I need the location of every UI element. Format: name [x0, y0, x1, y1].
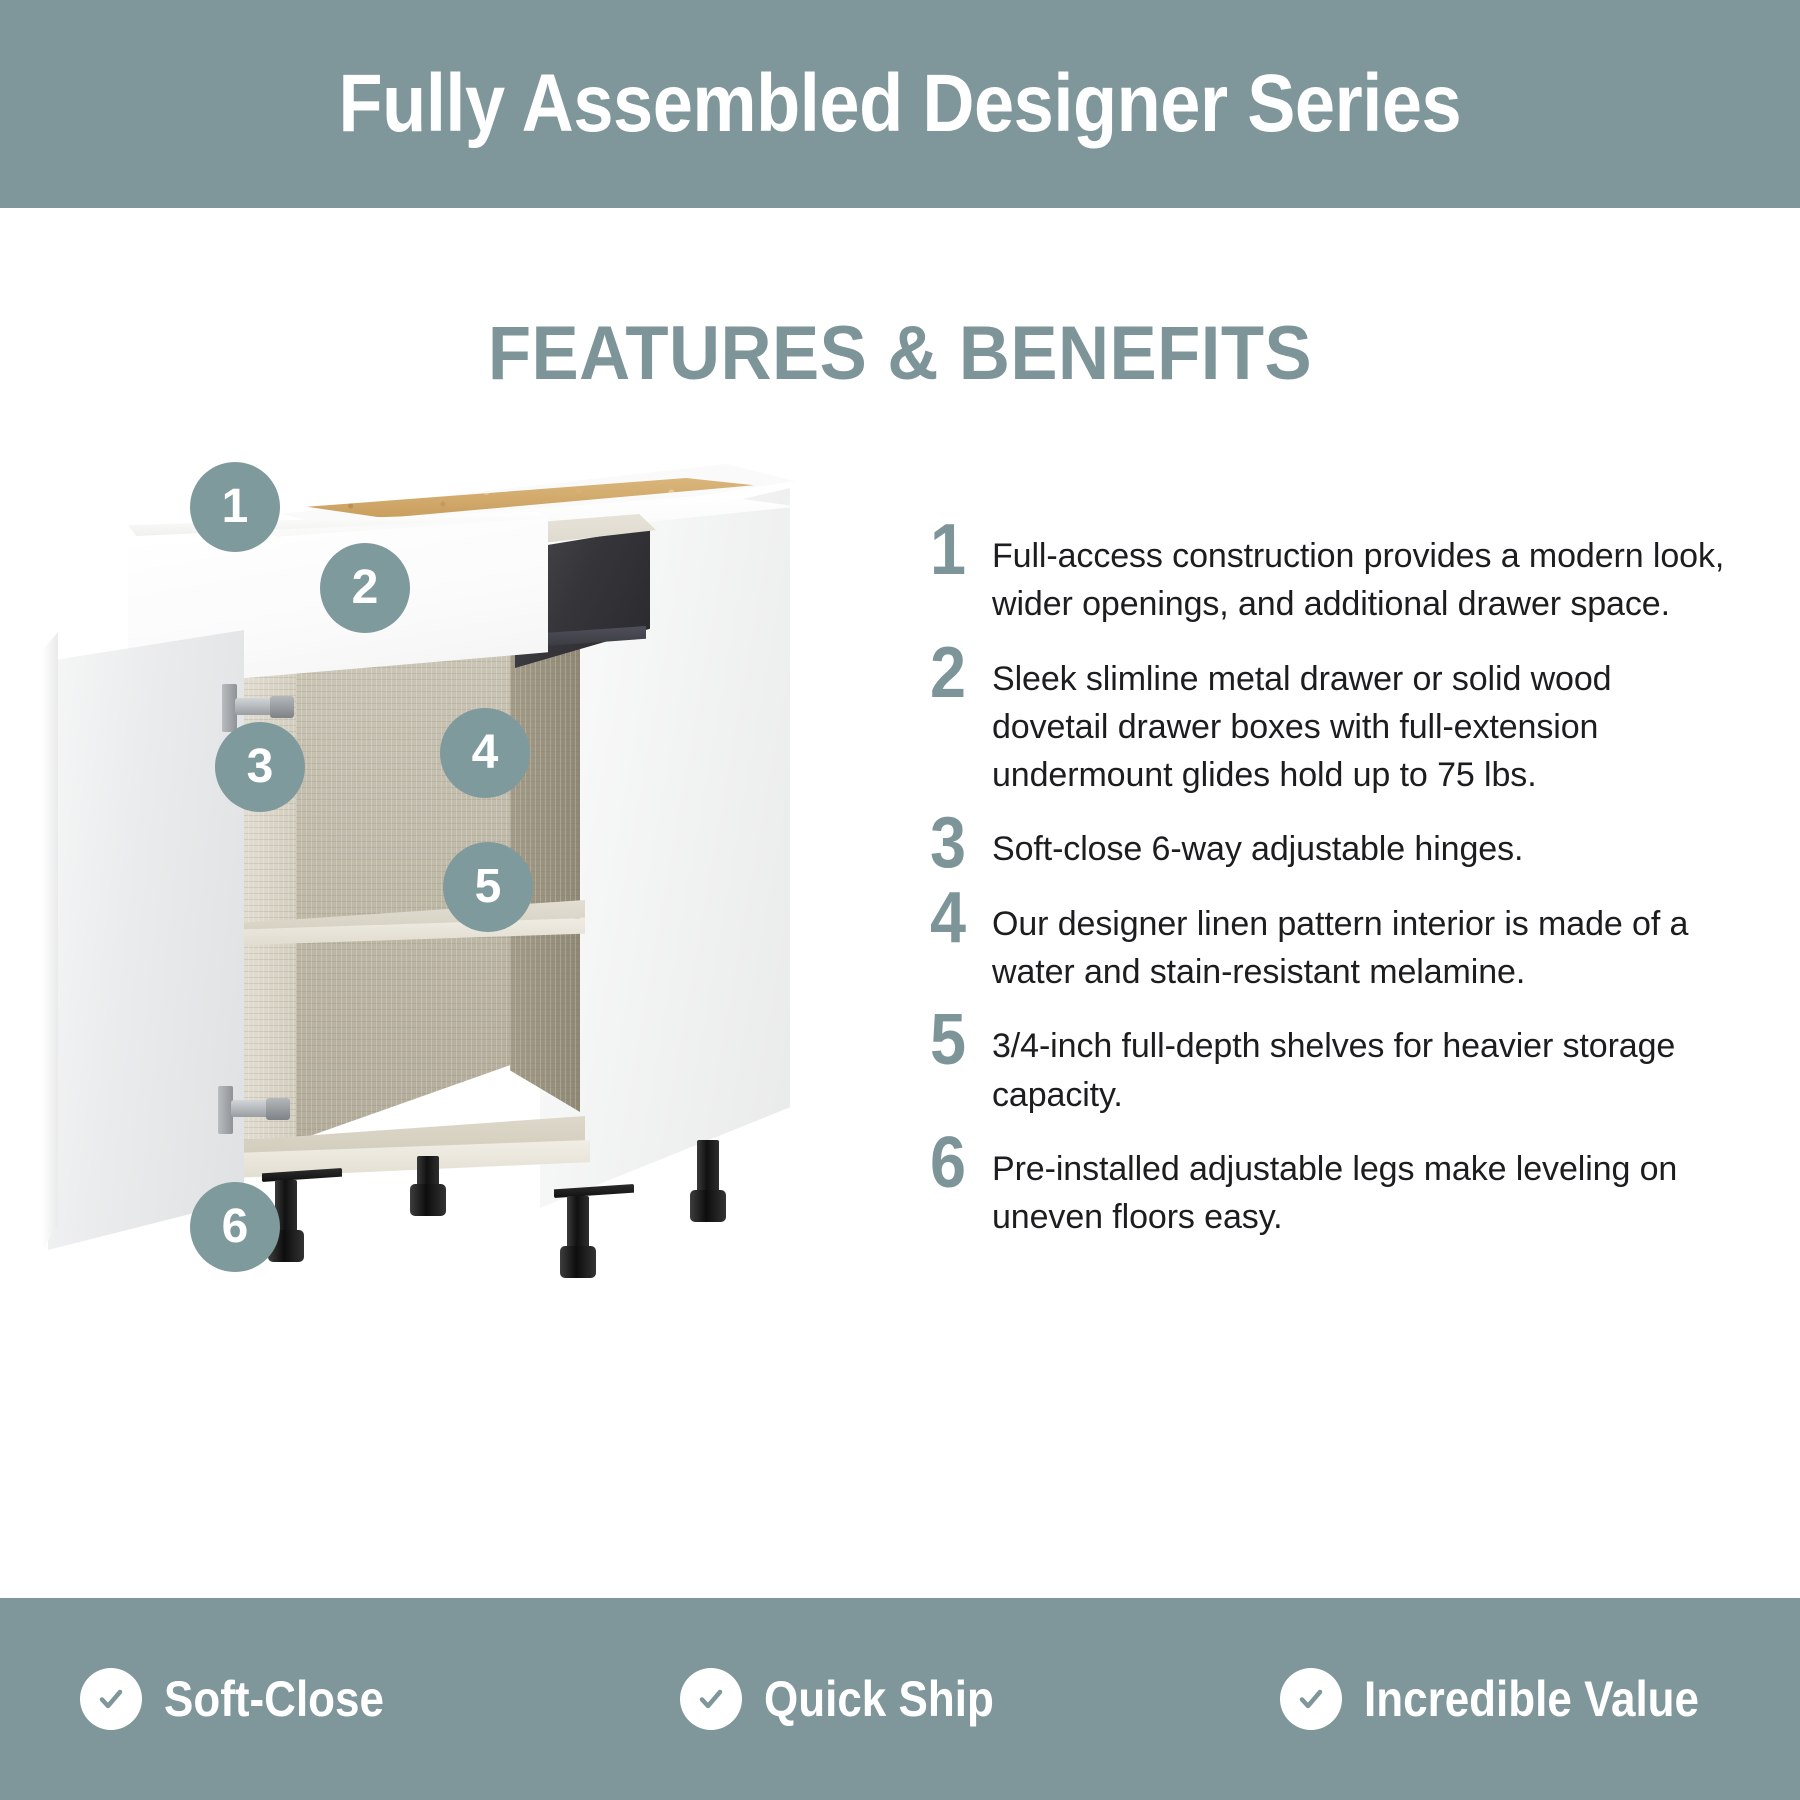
cabinet-diagram: 1 2 3 4 5 6	[40, 440, 920, 1500]
feature-text-1: Full-access construction provides a mode…	[992, 520, 1730, 629]
cabinet-door-panel	[48, 630, 244, 1250]
feature-number-6: 6	[930, 1133, 986, 1193]
footer-item-incredible-value: Incredible Value	[1200, 1668, 1800, 1730]
callout-badge-3: 3	[215, 722, 305, 812]
feature-item-2: 2 Sleek slimline metal drawer or solid w…	[930, 643, 1730, 800]
feature-number-4: 4	[930, 888, 986, 948]
feature-text-5: 3/4-inch full-depth shelves for heavier …	[992, 1010, 1730, 1119]
linen-texture	[510, 592, 580, 1112]
check-circle-icon	[1280, 1668, 1342, 1730]
page-title: Fully Assembled Designer Series	[339, 63, 1462, 145]
callout-badge-1: 1	[190, 462, 280, 552]
feature-item-6: 6 Pre-installed adjustable legs make lev…	[930, 1133, 1730, 1242]
callout-badge-6: 6	[190, 1182, 280, 1272]
infographic-page: Fully Assembled Designer Series FEATURES…	[0, 0, 1800, 1800]
footer-label-soft-close: Soft-Close	[164, 1674, 384, 1724]
hinge-cup	[266, 1098, 290, 1120]
callout-badge-2: 2	[320, 543, 410, 633]
feature-item-3: 3 Soft-close 6-way adjustable hinges.	[930, 813, 1730, 873]
footer-item-quick-ship: Quick Ship	[600, 1668, 1200, 1730]
footer-label-incredible-value: Incredible Value	[1364, 1674, 1699, 1724]
callout-badge-5: 5	[443, 842, 533, 932]
product-illustration: 1 2 3 4 5 6	[40, 440, 920, 1500]
leg-foot	[690, 1190, 726, 1222]
feature-number-2: 2	[930, 643, 986, 703]
feature-text-2: Sleek slimline metal drawer or solid woo…	[992, 643, 1730, 800]
check-circle-icon	[680, 1668, 742, 1730]
feature-item-1: 1 Full-access construction provides a mo…	[930, 520, 1730, 629]
feature-number-5: 5	[930, 1010, 986, 1070]
hinge-cup	[270, 696, 294, 718]
footer-label-quick-ship: Quick Ship	[764, 1674, 994, 1724]
header-banner: Fully Assembled Designer Series	[0, 0, 1800, 208]
feature-text-3: Soft-close 6-way adjustable hinges.	[992, 813, 1730, 873]
feature-text-4: Our designer linen pattern interior is m…	[992, 888, 1730, 997]
feature-item-5: 5 3/4-inch full-depth shelves for heavie…	[930, 1010, 1730, 1119]
features-list: 1 Full-access construction provides a mo…	[930, 520, 1730, 1255]
section-heading: FEATURES & BENEFITS	[63, 316, 1737, 392]
callout-badge-4: 4	[440, 708, 530, 798]
cabinet-interior-right-wall	[510, 592, 580, 1112]
feature-number-1: 1	[930, 520, 986, 580]
leg-foot	[560, 1246, 596, 1278]
soft-close-hinge-bottom	[218, 1080, 292, 1140]
feature-text-6: Pre-installed adjustable legs make level…	[992, 1133, 1730, 1242]
feature-number-3: 3	[930, 813, 986, 873]
footer-item-soft-close: Soft-Close	[0, 1668, 600, 1730]
feature-item-4: 4 Our designer linen pattern interior is…	[930, 888, 1730, 997]
leg-foot	[410, 1184, 446, 1216]
check-circle-icon	[80, 1668, 142, 1730]
cabinet-door-edge	[42, 632, 58, 1250]
footer-banner: Soft-Close Quick Ship Incredible Value	[0, 1598, 1800, 1800]
